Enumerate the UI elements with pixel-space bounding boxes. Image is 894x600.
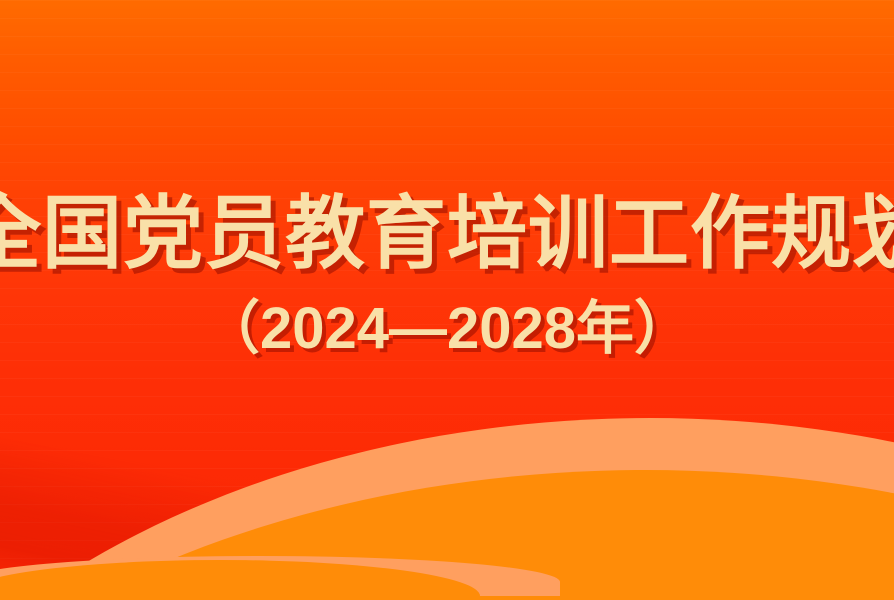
title-block: 全国党员教育培训工作规划 （2024—2028年） — [0, 0, 894, 600]
page-title: 全国党员教育培训工作规划 — [0, 194, 894, 274]
poster-canvas: 全国党员教育培训工作规划 （2024—2028年） — [0, 0, 894, 600]
page-subtitle-period: （2024—2028年） — [202, 300, 692, 358]
